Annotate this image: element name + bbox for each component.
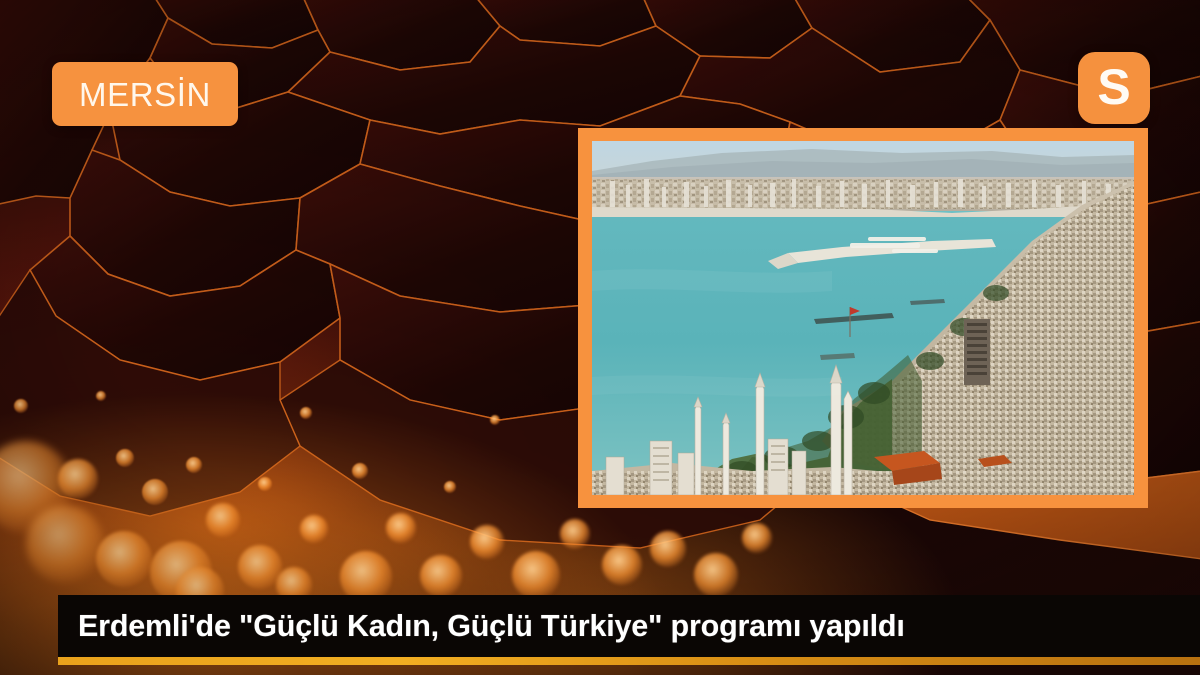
headline-text: Erdemli'de "Güçlü Kadın, Güçlü Türkiye" … [58,609,905,644]
city-badge: MERSİN [52,62,238,126]
photo-frame [578,128,1148,508]
news-card-stage: MERSİN S [0,0,1200,675]
headline-underline [58,657,1200,665]
headline-banner: Erdemli'de "Güçlü Kadın, Güçlü Türkiye" … [58,595,1200,657]
mersin-aerial-photo [592,141,1134,495]
city-badge-label: MERSİN [79,78,211,111]
brand-logo-letter: S [1097,62,1130,112]
brand-s-logo[interactable]: S [1078,52,1150,124]
